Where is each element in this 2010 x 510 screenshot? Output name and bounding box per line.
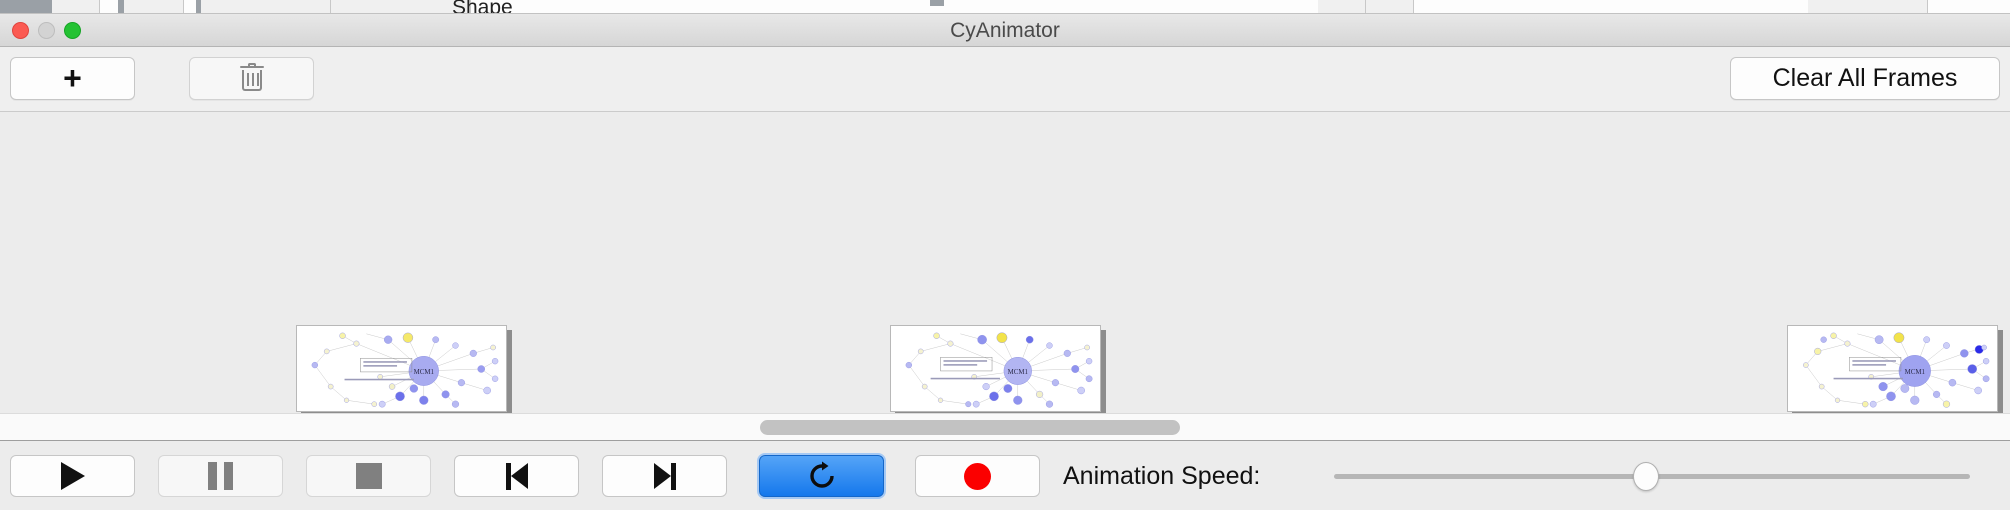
timeline-scrollbar[interactable] — [0, 413, 2010, 441]
bg-decor — [52, 0, 100, 14]
skip-next-icon — [654, 463, 676, 490]
window-title: CyAnimator — [0, 14, 2010, 47]
pause-icon — [208, 462, 233, 490]
pause-button[interactable] — [158, 455, 283, 497]
skip-previous-icon — [506, 463, 528, 490]
play-button[interactable] — [10, 455, 135, 497]
clear-all-frames-label: Clear All Frames — [1773, 64, 1958, 93]
animation-speed-slider[interactable] — [1334, 455, 1970, 497]
play-icon — [61, 462, 85, 490]
frame-thumbnail: MCM1 — [1787, 325, 1998, 412]
scrollbar-thumb[interactable] — [760, 420, 1180, 435]
network-graph-thumbnail: MCM1 — [891, 326, 1100, 411]
timeline-frame[interactable]: MCM1 — [296, 325, 512, 413]
timeline-frame[interactable]: MCM1 — [1787, 325, 2003, 413]
svg-text:MCM1: MCM1 — [414, 369, 435, 376]
clear-all-frames-button[interactable]: Clear All Frames — [1730, 57, 2000, 100]
add-frame-button[interactable]: + — [10, 57, 135, 100]
bg-decor — [930, 0, 944, 6]
timeline-frame[interactable]: MCM1 — [890, 325, 1106, 413]
bg-decor — [0, 0, 52, 14]
record-button[interactable] — [915, 455, 1040, 497]
loop-button[interactable] — [759, 455, 884, 497]
bg-window-label: Shape — [452, 0, 513, 14]
bg-decor — [1366, 0, 1414, 14]
svg-text:MCM1: MCM1 — [1008, 369, 1029, 376]
bg-decor — [1318, 0, 1366, 14]
trash-icon — [239, 64, 265, 94]
bg-decor — [201, 0, 331, 14]
bg-decor — [331, 0, 471, 14]
delete-frame-button[interactable] — [189, 57, 314, 100]
previous-frame-button[interactable] — [454, 455, 579, 497]
frame-thumbnail: MCM1 — [890, 325, 1101, 412]
timeline-panel[interactable]: MCM1 — [0, 113, 2010, 413]
plus-icon: + — [63, 62, 82, 94]
network-graph-thumbnail: MCM1 — [297, 326, 506, 411]
stop-icon — [356, 463, 382, 489]
title-bar: CyAnimator — [0, 14, 2010, 47]
frame-thumbnail: MCM1 — [296, 325, 507, 412]
record-icon — [964, 463, 991, 490]
playback-controls: Animation Speed: — [0, 442, 2010, 510]
animation-speed-label: Animation Speed: — [1063, 455, 1260, 497]
background-window-strip: Shape — [0, 0, 2010, 14]
bg-decor — [1808, 0, 1928, 14]
network-graph-thumbnail: MCM1 — [1788, 326, 1997, 411]
bg-decor — [124, 0, 184, 14]
toolbar: + Clear All Frames — [0, 47, 2010, 112]
slider-thumb[interactable] — [1633, 462, 1659, 491]
svg-text:MCM1: MCM1 — [1905, 369, 1926, 376]
stop-button[interactable] — [306, 455, 431, 497]
loop-icon — [807, 461, 837, 491]
next-frame-button[interactable] — [602, 455, 727, 497]
